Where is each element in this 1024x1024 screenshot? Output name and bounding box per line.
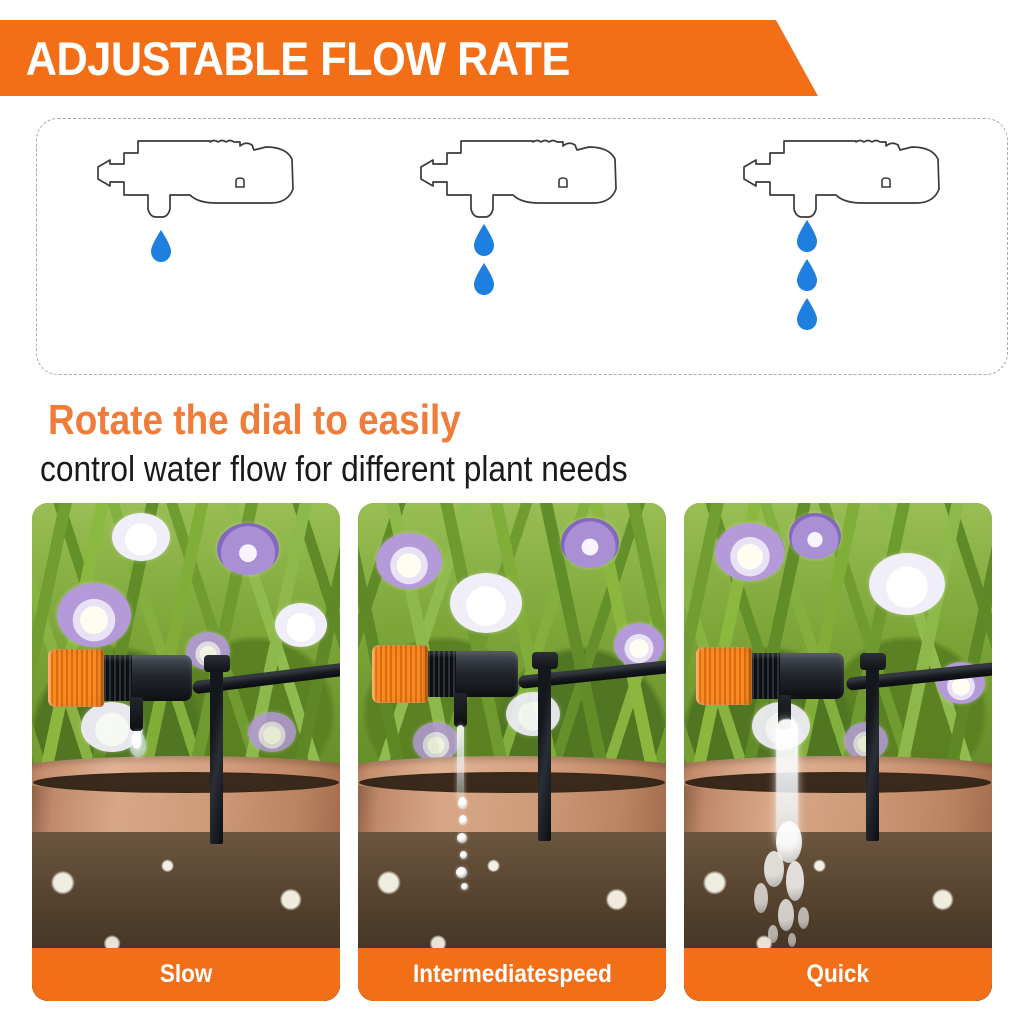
- ground-stake: [866, 663, 879, 841]
- pot-soil: [359, 772, 665, 793]
- photo-panel-quick[interactable]: Quick: [684, 503, 992, 1001]
- drop-stack-quick: [794, 219, 820, 331]
- pansy-flower: [57, 583, 131, 647]
- pansy-flower: [248, 712, 296, 752]
- pot-soil: [33, 772, 339, 793]
- water-drop-icon: [471, 223, 497, 257]
- nozzle-outline-icon: [740, 137, 950, 232]
- panel-caption-slow: Slow: [32, 948, 340, 1001]
- nozzle-outline-icon: [417, 137, 627, 232]
- pansy-flower: [275, 603, 327, 647]
- photo-panel-row: Slow: [32, 503, 992, 1001]
- flow-dial[interactable]: [696, 647, 752, 705]
- caption-label: Intermediatespeed: [413, 962, 612, 987]
- pansy-flower: [789, 513, 841, 559]
- header-banner: ADJUSTABLE FLOW RATE: [0, 20, 818, 96]
- drop-stack-intermediate: [471, 223, 497, 296]
- drop-stack-slow: [148, 229, 174, 263]
- photo-panel-intermediate[interactable]: Intermediatespeed: [358, 503, 666, 1001]
- emitter-outlet: [454, 693, 467, 727]
- garden-scene-quick: [684, 503, 992, 1001]
- stake-clip: [860, 653, 886, 670]
- heading-secondary: control water flow for different plant n…: [40, 449, 628, 489]
- stake-clip: [204, 655, 230, 672]
- pansy-flower: [506, 692, 560, 736]
- water-drop-icon: [794, 297, 820, 331]
- page-title: ADJUSTABLE FLOW RATE: [0, 35, 570, 82]
- garden-scene-slow: [32, 503, 340, 1001]
- water-drop-icon: [148, 229, 174, 263]
- pansy-flower: [869, 553, 945, 615]
- flow-dial[interactable]: [48, 649, 104, 707]
- emitter-outlet: [778, 695, 791, 729]
- nozzle-diagram-quick: [695, 119, 995, 369]
- pansy-flower: [450, 573, 522, 633]
- nozzle-diagram-slow: [49, 119, 349, 369]
- pansy-flower: [561, 518, 619, 568]
- water-drop-icon: [794, 258, 820, 292]
- caption-label: Quick: [807, 962, 870, 987]
- flow-diagram-box: [36, 118, 1008, 375]
- panel-caption-intermediate: Intermediatespeed: [358, 948, 666, 1001]
- nozzle-outline-icon: [94, 137, 304, 232]
- water-drop-icon: [794, 219, 820, 253]
- pansy-flower: [217, 523, 279, 575]
- pansy-flower: [715, 523, 785, 581]
- stake-clip: [532, 652, 558, 669]
- heading-primary: Rotate the dial to easily: [48, 397, 461, 443]
- water-drop-icon: [471, 262, 497, 296]
- emitter-outlet: [130, 697, 143, 731]
- ground-stake: [210, 666, 223, 844]
- pot-soil: [685, 772, 991, 793]
- garden-scene-intermediate: [358, 503, 666, 1001]
- nozzle-diagram-intermediate: [372, 119, 672, 369]
- caption-label: Slow: [160, 962, 213, 987]
- pansy-flower: [614, 623, 664, 667]
- panel-caption-quick: Quick: [684, 948, 992, 1001]
- pansy-flower: [112, 513, 170, 561]
- pansy-flower: [376, 533, 442, 589]
- flow-dial[interactable]: [372, 645, 428, 703]
- photo-panel-slow[interactable]: Slow: [32, 503, 340, 1001]
- ground-stake: [538, 663, 551, 841]
